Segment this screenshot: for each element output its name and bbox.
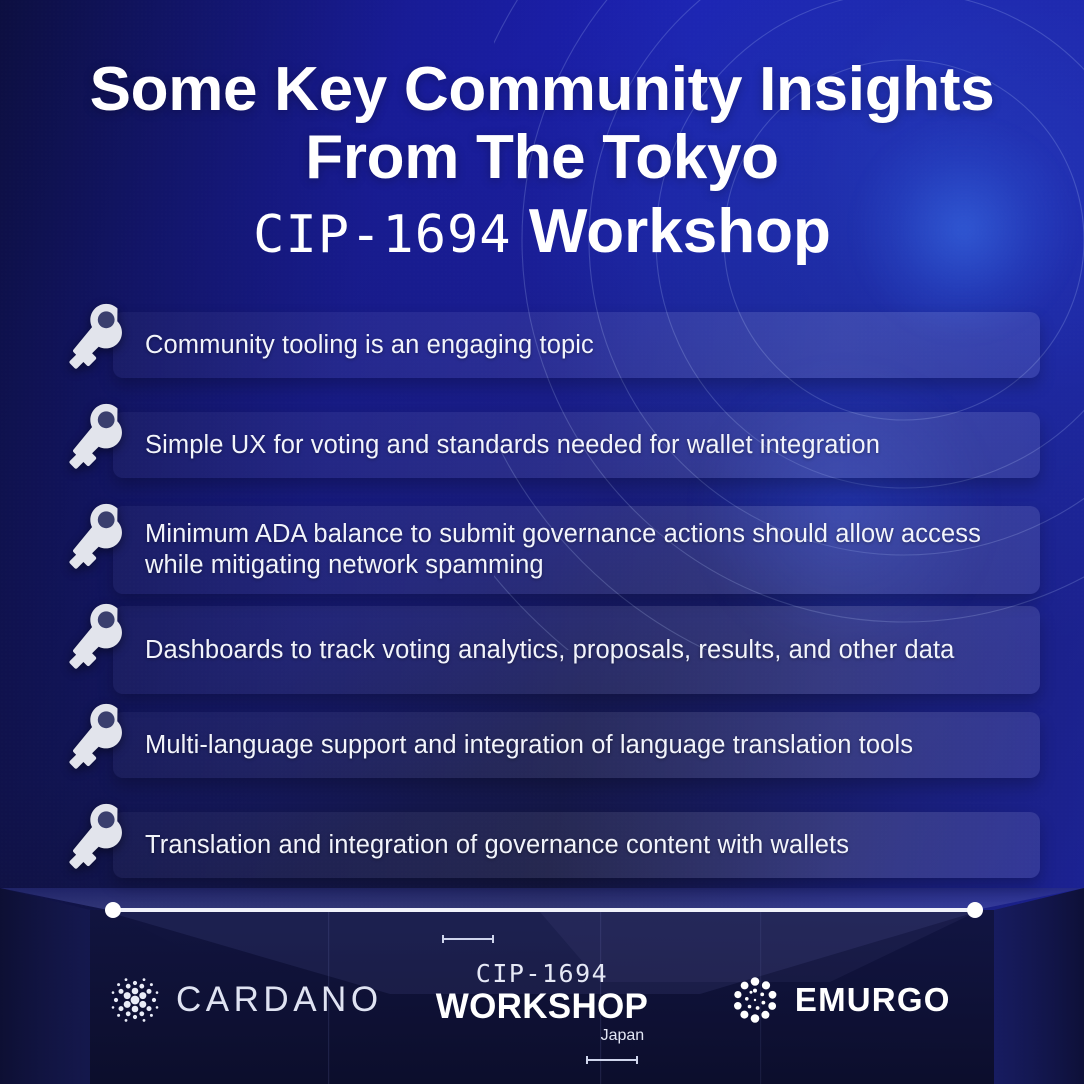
- title-cip-label: CIP-1694: [253, 205, 511, 265]
- workshop-country-label: Japan: [436, 1026, 648, 1045]
- insight-text: Minimum ADA balance to submit governance…: [113, 519, 1040, 581]
- insight-text: Multi-language support and integration o…: [113, 730, 937, 761]
- list-item: Multi-language support and integration o…: [0, 700, 1084, 800]
- footer-logos: CARDANO CIP-1694 WORKSHOP Japan: [90, 916, 994, 1084]
- divider-dot-left-icon: [105, 902, 121, 918]
- key-icon: [62, 600, 136, 674]
- insight-card: Translation and integration of governanc…: [113, 812, 1040, 878]
- page-title: Some Key Community Insights From The Tok…: [0, 56, 1084, 267]
- brand-cardano: CARDANO: [90, 916, 400, 1084]
- key-icon: [62, 400, 136, 474]
- key-icon: [62, 300, 136, 374]
- key-icon: [62, 500, 136, 574]
- title-workshop-label: Workshop: [529, 197, 831, 266]
- tick-mark-bottom-icon: [586, 1059, 638, 1061]
- brand-label-cardano: CARDANO: [176, 980, 383, 1020]
- workshop-cip-label: CIP-1694: [436, 960, 648, 988]
- brand-emurgo: EMURGO: [684, 916, 994, 1084]
- brand-workshop: CIP-1694 WORKSHOP Japan: [400, 916, 685, 1084]
- insights-list: Community tooling is an engaging topic S…: [0, 300, 1084, 900]
- title-line-3: CIP-1694 Workshop: [0, 196, 1084, 267]
- brand-label-emurgo: EMURGO: [795, 981, 951, 1019]
- insight-card: Community tooling is an engaging topic: [113, 312, 1040, 378]
- key-icon: [62, 800, 136, 874]
- insight-card: Multi-language support and integration o…: [113, 712, 1040, 778]
- insight-text: Community tooling is an engaging topic: [113, 330, 618, 361]
- poster-canvas: Some Key Community Insights From The Tok…: [0, 0, 1084, 1084]
- list-item: Dashboards to track voting analytics, pr…: [0, 600, 1084, 700]
- insight-card: Simple UX for voting and standards neede…: [113, 412, 1040, 478]
- insight-card: Dashboards to track voting analytics, pr…: [113, 606, 1040, 694]
- insight-text: Dashboards to track voting analytics, pr…: [113, 635, 978, 666]
- list-item: Minimum ADA balance to submit governance…: [0, 500, 1084, 600]
- workshop-main-label: WORKSHOP: [436, 988, 648, 1025]
- cardano-dots-logo-icon: [107, 972, 163, 1028]
- list-item: Community tooling is an engaging topic: [0, 300, 1084, 400]
- title-line-2: From The Tokyo: [0, 124, 1084, 192]
- insight-card: Minimum ADA balance to submit governance…: [113, 506, 1040, 594]
- emurgo-dots-logo-icon: [728, 973, 782, 1027]
- footer-divider: [112, 908, 976, 912]
- insight-text: Translation and integration of governanc…: [113, 830, 873, 861]
- tick-mark-top-icon: [442, 938, 494, 940]
- insight-text: Simple UX for voting and standards neede…: [113, 430, 904, 461]
- list-item: Translation and integration of governanc…: [0, 800, 1084, 900]
- divider-dot-right-icon: [967, 902, 983, 918]
- list-item: Simple UX for voting and standards neede…: [0, 400, 1084, 500]
- title-line-1: Some Key Community Insights: [0, 56, 1084, 124]
- key-icon: [62, 700, 136, 774]
